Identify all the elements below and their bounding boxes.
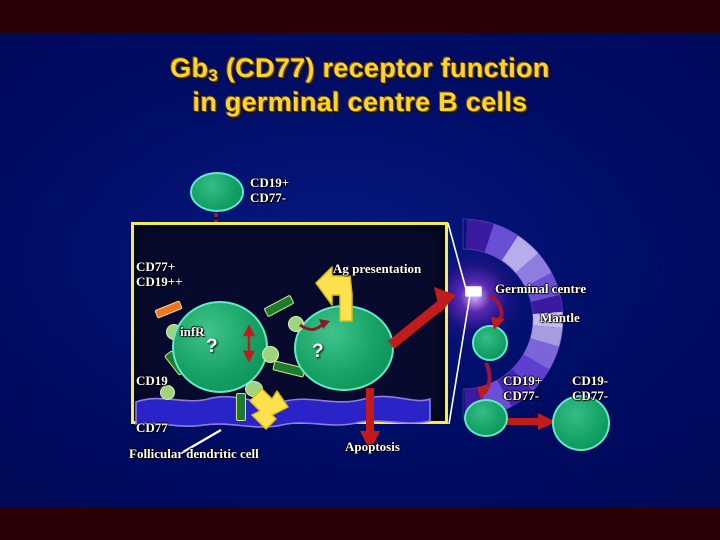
slide-canvas: Gb3 (CD77) receptor function in germinal… xyxy=(0,33,720,508)
output-to-large-cell-arrow xyxy=(505,413,556,430)
gc-to-cell-curved-arrow xyxy=(490,295,505,330)
output-path-svg xyxy=(0,33,720,508)
output-cell-mid xyxy=(464,399,508,437)
slide-top-border xyxy=(0,0,720,33)
output-cell2-label: CD19- CD77- xyxy=(572,373,608,403)
slide-bottom-border xyxy=(0,508,720,540)
cell-to-output-curved-arrow xyxy=(477,363,491,400)
slide-root: Gb3 (CD77) receptor function in germinal… xyxy=(0,0,720,540)
output-cell1-label: CD19+ CD77- xyxy=(503,373,542,403)
output-cell-large xyxy=(552,395,610,451)
